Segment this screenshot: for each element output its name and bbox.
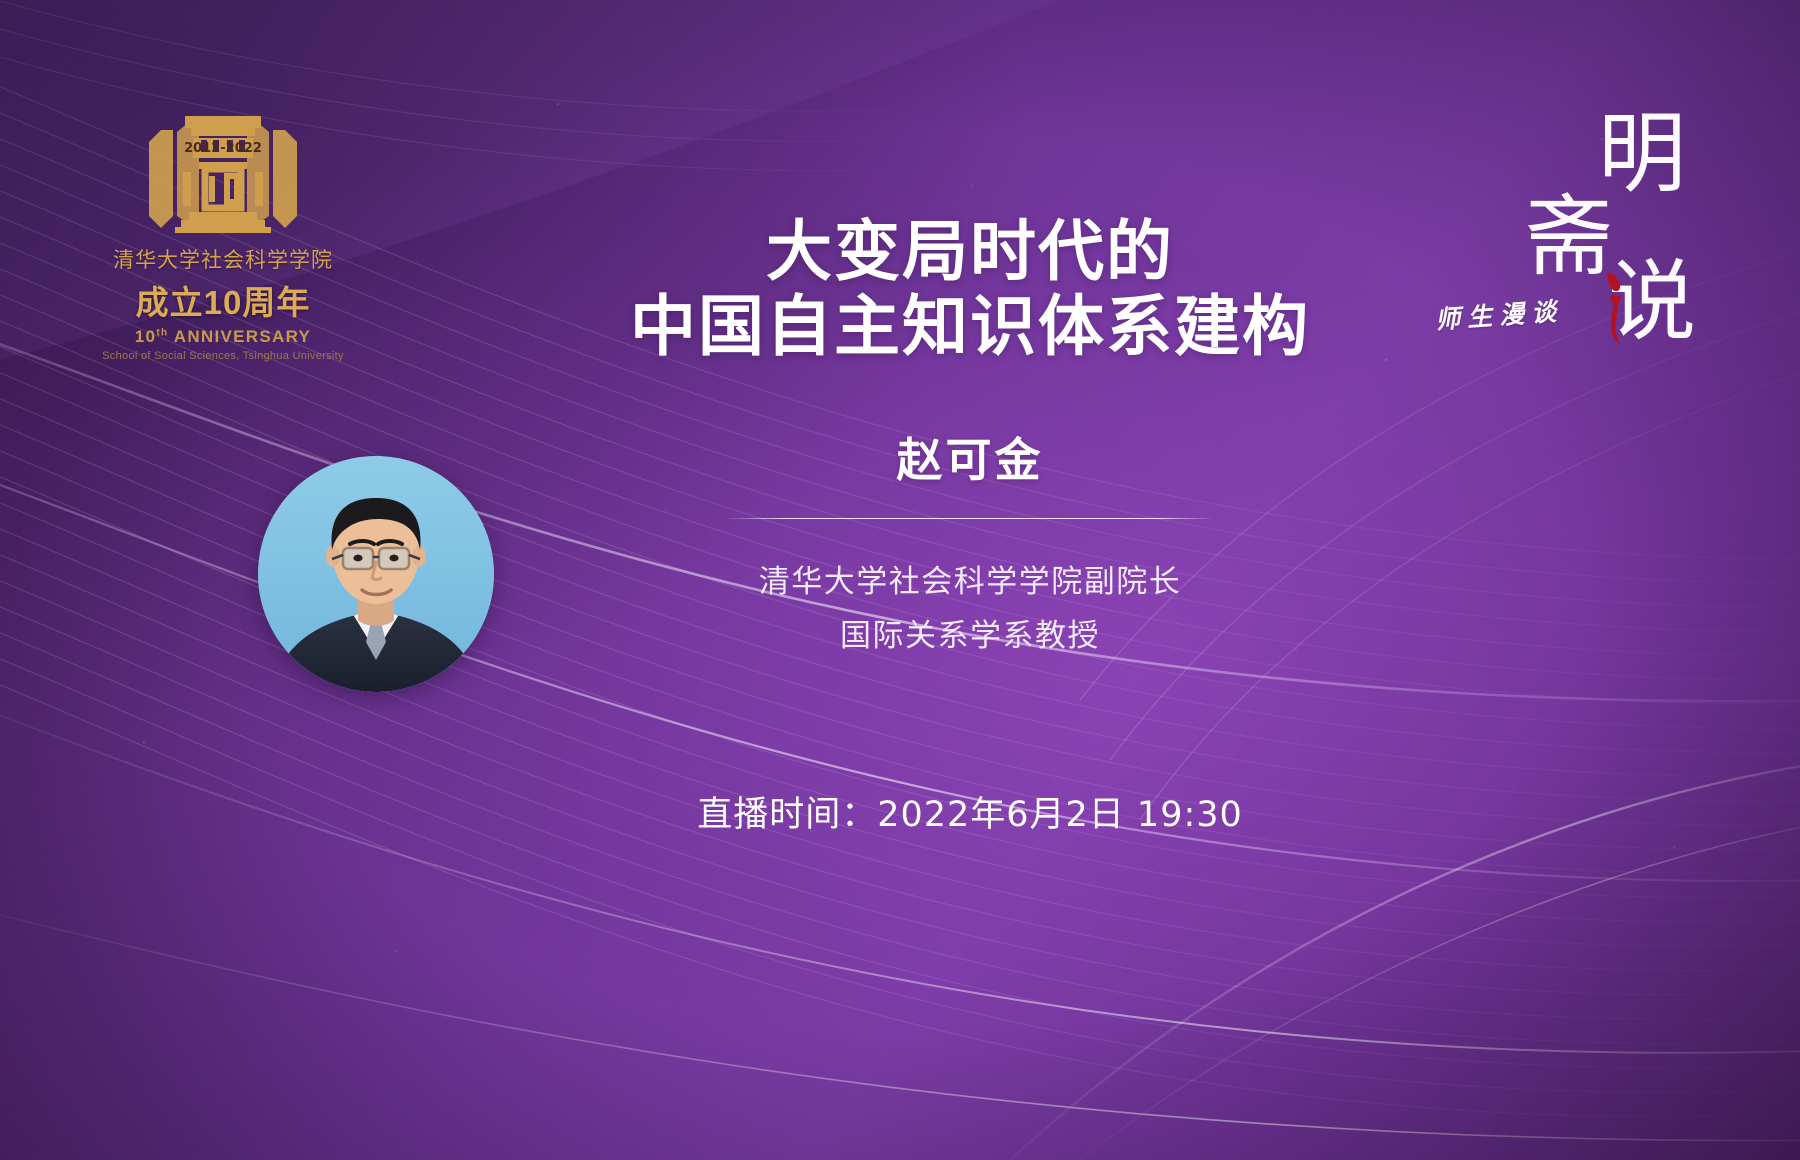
logo-sub-en: School of Social Sciences, Tsinghua Univ… bbox=[98, 350, 348, 362]
logo-headline-en-word: ANNIVERSARY bbox=[174, 327, 311, 346]
program-logo: 明 斋 说 师生漫谈 bbox=[1430, 100, 1760, 360]
emblem-years-label: 2012-2022 bbox=[184, 141, 262, 156]
logo-school-name: 清华大学社会科学学院 bbox=[98, 244, 348, 274]
page-title-line-2: 中国自主知识体系建构 bbox=[470, 290, 1470, 365]
live-stream-poster: 2012-2022 清华大学社会科学学院 成立10周年 10th ANNIVER… bbox=[0, 0, 1800, 1160]
anniversary-logo: 2012-2022 清华大学社会科学学院 成立10周年 10th ANNIVER… bbox=[98, 112, 348, 362]
logo-headline-cn: 成立10周年 bbox=[98, 276, 348, 324]
speaker-portrait-illustration bbox=[258, 456, 494, 692]
speaker-affiliation: 清华大学社会科学学院副院长 国际关系学系教授 bbox=[470, 555, 1470, 664]
speaker-portrait bbox=[258, 456, 494, 692]
logo-headline-en-ordinal: th bbox=[156, 327, 168, 338]
speaker-name: 赵可金 bbox=[470, 424, 1470, 490]
logo-headline-en: 10th ANNIVERSARY bbox=[98, 327, 348, 347]
speaker-affiliation-line-1: 清华大学社会科学学院副院长 bbox=[470, 555, 1470, 609]
program-logo-char-zhai: 斋 bbox=[1525, 193, 1613, 281]
divider bbox=[725, 518, 1215, 519]
poster-content: 大变局时代的 中国自主知识体系建构 赵可金 清华大学社会科学学院副院长 国际关系… bbox=[470, 215, 1470, 837]
page-title-line-1: 大变局时代的 bbox=[470, 215, 1470, 290]
red-speech-radical-icon bbox=[1602, 268, 1636, 346]
tsinghua-gate-emblem-icon: 2012-2022 bbox=[143, 112, 303, 240]
speaker-affiliation-line-2: 国际关系学系教授 bbox=[470, 609, 1470, 663]
logo-headline-en-number: 10 bbox=[135, 327, 157, 346]
broadcast-time: 直播时间：2022年6月2日 19:30 bbox=[470, 786, 1470, 837]
